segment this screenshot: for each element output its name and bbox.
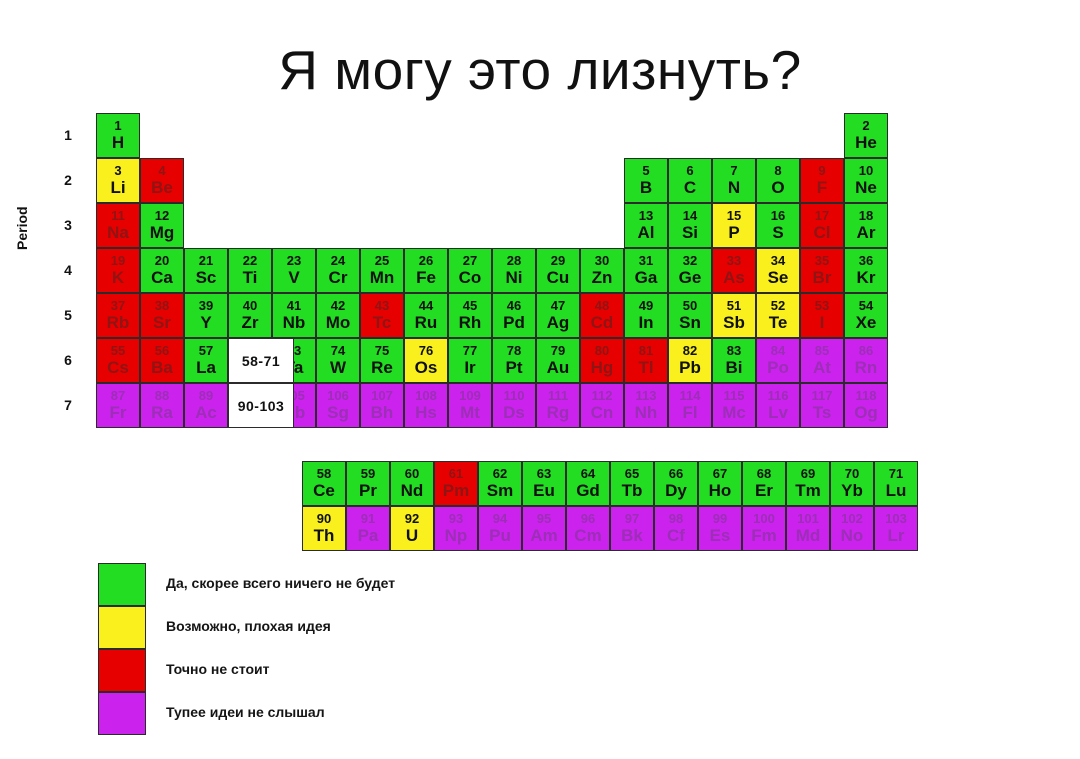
atomic-number: 88	[141, 388, 183, 403]
actinide-cell-am[interactable]: 95Am	[522, 506, 566, 551]
atomic-number: 23	[273, 253, 315, 268]
atomic-number: 112	[581, 388, 623, 403]
atomic-number: 50	[669, 298, 711, 313]
atomic-number: 106	[317, 388, 359, 403]
atomic-number: 34	[757, 253, 799, 268]
element-cell-al[interactable]: 13Al	[624, 203, 668, 248]
element-symbol: Ba	[141, 358, 183, 377]
atomic-number: 22	[229, 253, 271, 268]
element-symbol: Gd	[567, 481, 609, 500]
atomic-number: 101	[787, 511, 829, 526]
atomic-number: 46	[493, 298, 535, 313]
atomic-number: 63	[523, 466, 565, 481]
element-cell-zr[interactable]: 40Zr	[228, 293, 272, 338]
actinide-cell-cf[interactable]: 98Cf	[654, 506, 698, 551]
actinide-cell-fm[interactable]: 100Fm	[742, 506, 786, 551]
actinide-cell-u[interactable]: 92U	[390, 506, 434, 551]
atomic-number: 103	[875, 511, 917, 526]
element-cell-ag[interactable]: 47Ag	[536, 293, 580, 338]
element-symbol: Au	[537, 358, 579, 377]
legend-label: Точно не стоит	[166, 661, 270, 677]
element-cell-cr[interactable]: 24Cr	[316, 248, 360, 293]
atomic-number: 60	[391, 466, 433, 481]
element-cell-as[interactable]: 33As	[712, 248, 756, 293]
element-symbol: Nd	[391, 481, 433, 500]
element-symbol: Ce	[303, 481, 345, 500]
atomic-number: 21	[185, 253, 227, 268]
element-cell-o[interactable]: 8O	[756, 158, 800, 203]
element-symbol: F	[801, 178, 843, 197]
lanthanide-cell-dy[interactable]: 66Dy	[654, 461, 698, 506]
element-cell-rn[interactable]: 86Rn	[844, 338, 888, 383]
atomic-number: 68	[743, 466, 785, 481]
element-cell-bh[interactable]: 107Bh	[360, 383, 404, 428]
element-symbol: Bk	[611, 526, 653, 545]
element-cell-ru[interactable]: 44Ru	[404, 293, 448, 338]
lanthanide-cell-ce[interactable]: 58Ce	[302, 461, 346, 506]
element-cell-ds[interactable]: 110Ds	[492, 383, 536, 428]
atomic-number: 24	[317, 253, 359, 268]
lanthanide-cell-sm[interactable]: 62Sm	[478, 461, 522, 506]
lanthanide-cell-pr[interactable]: 59Pr	[346, 461, 390, 506]
element-cell-v[interactable]: 23V	[272, 248, 316, 293]
atomic-number: 100	[743, 511, 785, 526]
element-cell-tc[interactable]: 43Tc	[360, 293, 404, 338]
element-cell-kr[interactable]: 36Kr	[844, 248, 888, 293]
element-cell-mo[interactable]: 42Mo	[316, 293, 360, 338]
lanthanide-cell-lu[interactable]: 71Lu	[874, 461, 918, 506]
element-symbol: Ru	[405, 313, 447, 332]
element-cell-fr[interactable]: 87Fr	[96, 383, 140, 428]
element-cell-sb[interactable]: 51Sb	[712, 293, 756, 338]
actinide-cell-pu[interactable]: 94Pu	[478, 506, 522, 551]
element-symbol: Nb	[273, 313, 315, 332]
element-cell-he[interactable]: 2He	[844, 113, 888, 158]
atomic-number: 26	[405, 253, 447, 268]
element-symbol: W	[317, 358, 359, 377]
element-cell-fl[interactable]: 114Fl	[668, 383, 712, 428]
period-number-3: 3	[58, 217, 78, 233]
element-cell-y[interactable]: 39Y	[184, 293, 228, 338]
atomic-number: 86	[845, 343, 887, 358]
element-symbol: B	[625, 178, 667, 197]
atomic-number: 12	[141, 208, 183, 223]
atomic-number: 91	[347, 511, 389, 526]
element-symbol: As	[713, 268, 755, 287]
element-symbol: Ag	[537, 313, 579, 332]
element-cell-rb[interactable]: 37Rb	[96, 293, 140, 338]
atomic-number: 27	[449, 253, 491, 268]
atomic-number: 94	[479, 511, 521, 526]
atomic-number: 64	[567, 466, 609, 481]
element-symbol: Ra	[141, 403, 183, 422]
element-cell-n[interactable]: 7N	[712, 158, 756, 203]
period-number-7: 7	[58, 397, 78, 413]
element-cell-co[interactable]: 27Co	[448, 248, 492, 293]
atomic-number: 58	[303, 466, 345, 481]
element-cell-rh[interactable]: 45Rh	[448, 293, 492, 338]
element-symbol: Tc	[361, 313, 403, 332]
element-symbol: Bh	[361, 403, 403, 422]
element-symbol: Y	[185, 313, 227, 332]
element-cell-cl[interactable]: 17Cl	[800, 203, 844, 248]
atomic-number: 38	[141, 298, 183, 313]
element-symbol: Se	[757, 268, 799, 287]
element-cell-si[interactable]: 14Si	[668, 203, 712, 248]
element-cell-i[interactable]: 53I	[800, 293, 844, 338]
atomic-number: 20	[141, 253, 183, 268]
atomic-number: 76	[405, 343, 447, 358]
element-symbol: Og	[845, 403, 887, 422]
element-symbol: Pd	[493, 313, 535, 332]
element-cell-na[interactable]: 11Na	[96, 203, 140, 248]
element-cell-nh[interactable]: 113Nh	[624, 383, 668, 428]
element-symbol: Mn	[361, 268, 403, 287]
element-symbol: Cm	[567, 526, 609, 545]
actinide-cell-bk[interactable]: 97Bk	[610, 506, 654, 551]
atomic-number: 17	[801, 208, 843, 223]
element-cell-hs[interactable]: 108Hs	[404, 383, 448, 428]
element-cell-ca[interactable]: 20Ca	[140, 248, 184, 293]
atomic-number: 9	[801, 163, 843, 178]
element-symbol: Pb	[669, 358, 711, 377]
atomic-number: 78	[493, 343, 535, 358]
atomic-number: 57	[185, 343, 227, 358]
atomic-number: 96	[567, 511, 609, 526]
element-cell-xe[interactable]: 54Xe	[844, 293, 888, 338]
element-symbol: Lv	[757, 403, 799, 422]
atomic-number: 28	[493, 253, 535, 268]
atomic-number: 79	[537, 343, 579, 358]
element-symbol: V	[273, 268, 315, 287]
atomic-number: 1	[97, 118, 139, 133]
atomic-number: 85	[801, 343, 843, 358]
element-cell-mg[interactable]: 12Mg	[140, 203, 184, 248]
element-cell-ts[interactable]: 117Ts	[800, 383, 844, 428]
atomic-number: 90	[303, 511, 345, 526]
element-cell-po[interactable]: 84Po	[756, 338, 800, 383]
element-cell-p[interactable]: 15P	[712, 203, 756, 248]
element-cell-re[interactable]: 75Re	[360, 338, 404, 383]
atomic-number: 102	[831, 511, 873, 526]
element-symbol: Fl	[669, 403, 711, 422]
element-cell-sn[interactable]: 50Sn	[668, 293, 712, 338]
element-symbol: Xe	[845, 313, 887, 332]
atomic-number: 65	[611, 466, 653, 481]
atomic-number: 47	[537, 298, 579, 313]
series-placeholder-58-71[interactable]: 58-71	[228, 338, 294, 383]
element-symbol: Sm	[479, 481, 521, 500]
atomic-number: 116	[757, 388, 799, 403]
lanthanide-cell-tb[interactable]: 65Tb	[610, 461, 654, 506]
element-cell-ni[interactable]: 28Ni	[492, 248, 536, 293]
element-cell-og[interactable]: 118Og	[844, 383, 888, 428]
legend-label: Возможно, плохая идея	[166, 618, 331, 634]
element-cell-mn[interactable]: 25Mn	[360, 248, 404, 293]
element-cell-ac[interactable]: 89Ac	[184, 383, 228, 428]
atomic-number: 109	[449, 388, 491, 403]
atomic-number: 75	[361, 343, 403, 358]
element-symbol: Zn	[581, 268, 623, 287]
atomic-number: 19	[97, 253, 139, 268]
element-cell-li[interactable]: 3Li	[96, 158, 140, 203]
element-cell-cn[interactable]: 112Cn	[580, 383, 624, 428]
atomic-number: 49	[625, 298, 667, 313]
element-symbol: Yb	[831, 481, 873, 500]
element-symbol: Kr	[845, 268, 887, 287]
element-symbol: Cr	[317, 268, 359, 287]
element-symbol: I	[801, 313, 843, 332]
element-cell-sg[interactable]: 106Sg	[316, 383, 360, 428]
element-symbol: Pa	[347, 526, 389, 545]
atomic-number: 81	[625, 343, 667, 358]
element-cell-te[interactable]: 52Te	[756, 293, 800, 338]
atomic-number: 98	[655, 511, 697, 526]
actinide-cell-cm[interactable]: 96Cm	[566, 506, 610, 551]
atomic-number: 3	[97, 163, 139, 178]
atomic-number: 2	[845, 118, 887, 133]
element-symbol: Si	[669, 223, 711, 242]
element-cell-fe[interactable]: 26Fe	[404, 248, 448, 293]
series-placeholder-90-103[interactable]: 90-103	[228, 383, 294, 428]
element-symbol: Ir	[449, 358, 491, 377]
atomic-number: 111	[537, 388, 579, 403]
element-cell-ar[interactable]: 18Ar	[844, 203, 888, 248]
element-cell-mc[interactable]: 115Mc	[712, 383, 756, 428]
element-symbol: Er	[743, 481, 785, 500]
atomic-number: 95	[523, 511, 565, 526]
lanthanide-cell-eu[interactable]: 63Eu	[522, 461, 566, 506]
atomic-number: 14	[669, 208, 711, 223]
element-cell-rg[interactable]: 111Rg	[536, 383, 580, 428]
atomic-number: 48	[581, 298, 623, 313]
element-symbol: Ds	[493, 403, 535, 422]
element-cell-f[interactable]: 9F	[800, 158, 844, 203]
atomic-number: 52	[757, 298, 799, 313]
atomic-number: 36	[845, 253, 887, 268]
element-symbol: Es	[699, 526, 741, 545]
element-symbol: Hs	[405, 403, 447, 422]
element-symbol: Ts	[801, 403, 843, 422]
atomic-number: 4	[141, 163, 183, 178]
actinide-cell-np[interactable]: 93Np	[434, 506, 478, 551]
element-cell-hg[interactable]: 80Hg	[580, 338, 624, 383]
element-symbol: Os	[405, 358, 447, 377]
atomic-number: 37	[97, 298, 139, 313]
actinide-cell-md[interactable]: 101Md	[786, 506, 830, 551]
period-axis-label: Period	[14, 206, 30, 250]
atomic-number: 30	[581, 253, 623, 268]
legend-swatch-red	[98, 649, 146, 692]
atomic-number: 77	[449, 343, 491, 358]
atomic-number: 45	[449, 298, 491, 313]
period-number-2: 2	[58, 172, 78, 188]
periodic-table: Period 1234567 1H2He3Li4Be5B6C7N8O9F10Ne…	[0, 0, 1080, 759]
atomic-number: 42	[317, 298, 359, 313]
element-cell-se[interactable]: 34Se	[756, 248, 800, 293]
element-symbol: Ni	[493, 268, 535, 287]
element-symbol: Rh	[449, 313, 491, 332]
element-symbol: Sr	[141, 313, 183, 332]
actinide-cell-th[interactable]: 90Th	[302, 506, 346, 551]
element-cell-os[interactable]: 76Os	[404, 338, 448, 383]
element-cell-h[interactable]: 1H	[96, 113, 140, 158]
element-cell-ir[interactable]: 77Ir	[448, 338, 492, 383]
lanthanide-cell-tm[interactable]: 69Tm	[786, 461, 830, 506]
element-cell-cs[interactable]: 55Cs	[96, 338, 140, 383]
atomic-number: 118	[845, 388, 887, 403]
legend-swatch-yellow	[98, 606, 146, 649]
element-symbol: Rn	[845, 358, 887, 377]
atomic-number: 108	[405, 388, 447, 403]
lanthanide-cell-pm[interactable]: 61Pm	[434, 461, 478, 506]
element-symbol: Mo	[317, 313, 359, 332]
element-symbol: Mt	[449, 403, 491, 422]
element-cell-zn[interactable]: 30Zn	[580, 248, 624, 293]
atomic-number: 71	[875, 466, 917, 481]
element-cell-cu[interactable]: 29Cu	[536, 248, 580, 293]
actinide-cell-no[interactable]: 102No	[830, 506, 874, 551]
element-cell-la[interactable]: 57La	[184, 338, 228, 383]
element-symbol: Fe	[405, 268, 447, 287]
atomic-number: 107	[361, 388, 403, 403]
atomic-number: 25	[361, 253, 403, 268]
element-cell-ti[interactable]: 22Ti	[228, 248, 272, 293]
atomic-number: 97	[611, 511, 653, 526]
element-cell-br[interactable]: 35Br	[800, 248, 844, 293]
atomic-number: 114	[669, 388, 711, 403]
element-symbol: Co	[449, 268, 491, 287]
atomic-number: 67	[699, 466, 741, 481]
element-cell-b[interactable]: 5B	[624, 158, 668, 203]
element-cell-cd[interactable]: 48Cd	[580, 293, 624, 338]
element-symbol: Sn	[669, 313, 711, 332]
lanthanide-cell-er[interactable]: 68Er	[742, 461, 786, 506]
element-cell-ne[interactable]: 10Ne	[844, 158, 888, 203]
lanthanide-cell-ho[interactable]: 67Ho	[698, 461, 742, 506]
atomic-number: 31	[625, 253, 667, 268]
element-symbol: Mg	[141, 223, 183, 242]
element-cell-tl[interactable]: 81Tl	[624, 338, 668, 383]
atomic-number: 92	[391, 511, 433, 526]
element-cell-s[interactable]: 16S	[756, 203, 800, 248]
element-symbol: Sg	[317, 403, 359, 422]
element-cell-sc[interactable]: 21Sc	[184, 248, 228, 293]
lanthanide-cell-nd[interactable]: 60Nd	[390, 461, 434, 506]
element-symbol: At	[801, 358, 843, 377]
element-symbol: Cd	[581, 313, 623, 332]
element-symbol: Cl	[801, 223, 843, 242]
element-cell-pb[interactable]: 82Pb	[668, 338, 712, 383]
atomic-number: 51	[713, 298, 755, 313]
element-symbol: Ge	[669, 268, 711, 287]
element-symbol: Hg	[581, 358, 623, 377]
element-symbol: P	[713, 223, 755, 242]
element-symbol: Li	[97, 178, 139, 197]
element-symbol: Cn	[581, 403, 623, 422]
element-symbol: H	[97, 133, 139, 152]
element-symbol: He	[845, 133, 887, 152]
atomic-number: 93	[435, 511, 477, 526]
element-symbol: Ac	[185, 403, 227, 422]
element-symbol: Na	[97, 223, 139, 242]
atomic-number: 66	[655, 466, 697, 481]
element-symbol: Ca	[141, 268, 183, 287]
atomic-number: 29	[537, 253, 579, 268]
atomic-number: 44	[405, 298, 447, 313]
element-cell-w[interactable]: 74W	[316, 338, 360, 383]
element-symbol: Am	[523, 526, 565, 545]
atomic-number: 56	[141, 343, 183, 358]
element-symbol: Cs	[97, 358, 139, 377]
element-cell-c[interactable]: 6C	[668, 158, 712, 203]
element-cell-bi[interactable]: 83Bi	[712, 338, 756, 383]
element-symbol: Be	[141, 178, 183, 197]
atomic-number: 80	[581, 343, 623, 358]
element-cell-ba[interactable]: 56Ba	[140, 338, 184, 383]
element-cell-lv[interactable]: 116Lv	[756, 383, 800, 428]
element-cell-at[interactable]: 85At	[800, 338, 844, 383]
element-cell-ra[interactable]: 88Ra	[140, 383, 184, 428]
element-cell-in[interactable]: 49In	[624, 293, 668, 338]
legend-label: Тупее идеи не слышал	[166, 704, 325, 720]
element-symbol: La	[185, 358, 227, 377]
atomic-number: 16	[757, 208, 799, 223]
legend-label: Да, скорее всего ничего не будет	[166, 575, 395, 591]
element-cell-k[interactable]: 19K	[96, 248, 140, 293]
period-number-4: 4	[58, 262, 78, 278]
atomic-number: 61	[435, 466, 477, 481]
actinide-cell-es[interactable]: 99Es	[698, 506, 742, 551]
element-cell-be[interactable]: 4Be	[140, 158, 184, 203]
atomic-number: 62	[479, 466, 521, 481]
element-symbol: Tm	[787, 481, 829, 500]
element-symbol: Nh	[625, 403, 667, 422]
element-symbol: Pt	[493, 358, 535, 377]
element-symbol: Ar	[845, 223, 887, 242]
element-cell-au[interactable]: 79Au	[536, 338, 580, 383]
lanthanide-cell-gd[interactable]: 64Gd	[566, 461, 610, 506]
atomic-number: 41	[273, 298, 315, 313]
element-cell-ge[interactable]: 32Ge	[668, 248, 712, 293]
period-number-5: 5	[58, 307, 78, 323]
element-symbol: Sb	[713, 313, 755, 332]
actinide-cell-lr[interactable]: 103Lr	[874, 506, 918, 551]
actinide-cell-pa[interactable]: 91Pa	[346, 506, 390, 551]
element-symbol: Fr	[97, 403, 139, 422]
element-symbol: Re	[361, 358, 403, 377]
atomic-number: 83	[713, 343, 755, 358]
element-cell-mt[interactable]: 109Mt	[448, 383, 492, 428]
element-symbol: Zr	[229, 313, 271, 332]
element-symbol: Ti	[229, 268, 271, 287]
atomic-number: 53	[801, 298, 843, 313]
element-cell-nb[interactable]: 41Nb	[272, 293, 316, 338]
element-symbol: Lr	[875, 526, 917, 545]
element-cell-ga[interactable]: 31Ga	[624, 248, 668, 293]
period-number-1: 1	[58, 127, 78, 143]
element-symbol: Rg	[537, 403, 579, 422]
period-number-6: 6	[58, 352, 78, 368]
element-cell-sr[interactable]: 38Sr	[140, 293, 184, 338]
legend-swatch-green	[98, 563, 146, 606]
atomic-number: 70	[831, 466, 873, 481]
element-symbol: Th	[303, 526, 345, 545]
atomic-number: 39	[185, 298, 227, 313]
element-cell-pt[interactable]: 78Pt	[492, 338, 536, 383]
element-cell-pd[interactable]: 46Pd	[492, 293, 536, 338]
lanthanide-cell-yb[interactable]: 70Yb	[830, 461, 874, 506]
